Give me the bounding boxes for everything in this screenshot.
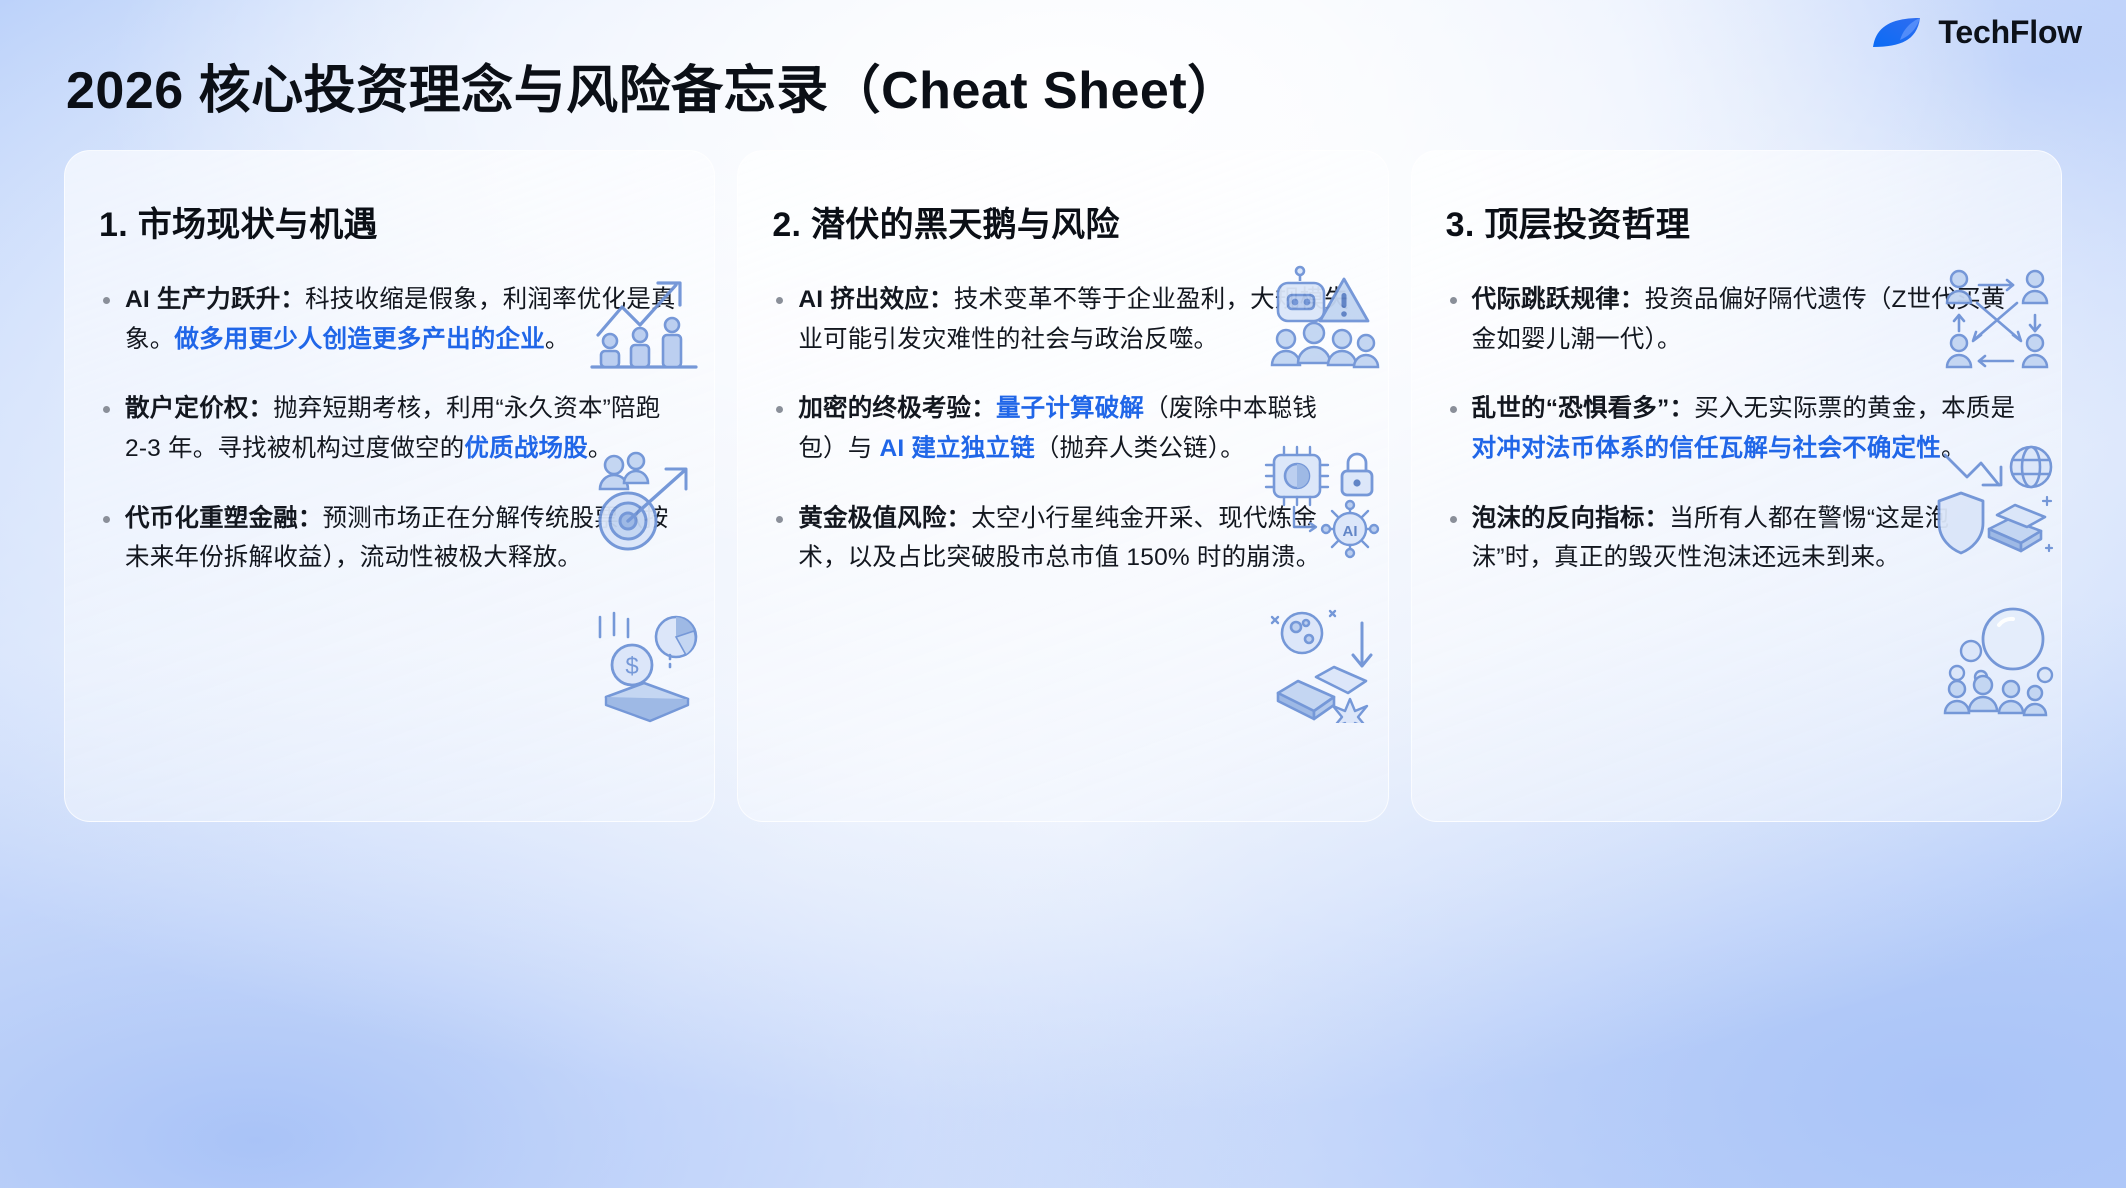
bullet-item: 乱世的“恐惧看多”：买入无实际票的黄金，本质是对冲对法币体系的信任瓦解与社会不确… [1446,389,2027,468]
column-title-1: 1. 市场现状与机遇 [99,197,680,246]
column-card-3: 3. 顶层投资哲理 代际跳跃规律：投资品偏好隔代遗传（Z世代买黄金如婴儿潮一代）… [1411,150,2062,822]
asteroid-gold-bar-icon [1264,603,1382,721]
bullet-lead: 加密的终极考验： [798,395,996,422]
brand-name: TechFlow [1938,14,2082,51]
bullet-body: 买入无实际票的黄金，本质是 [1694,395,2015,422]
brand-logo: TechFlow [1870,14,2082,51]
bullet-lead: 泡沫的反向指标： [1472,505,1670,532]
column-card-2: 2. 潜伏的黑天鹅与风险 AI 挤出效应：技术变革不等于企业盈利，大规模失业可能… [737,150,1388,822]
coin-pie-chart-icon: $ [584,603,708,721]
bullet-dot-icon [1450,297,1457,304]
bullet-dot-icon [776,297,783,304]
bullet-lead: 代际跳跃规律： [1472,286,1645,313]
bullet-highlight: 做多用更少人创造更多产出的企业 [174,326,545,353]
bullet-highlight: 量子计算破解 [996,395,1144,422]
bullet-lead: AI 挤出效应： [798,286,953,313]
bullet-highlight: 对冲对法币体系的信任瓦解与社会不确定性 [1472,435,1941,462]
column-title-3: 3. 顶层投资哲理 [1446,197,2027,246]
bullet-dot-icon [776,406,783,413]
bullet-body-after: 。 [588,435,613,462]
bullet-item: AI 挤出效应：技术变革不等于企业盈利，大规模失业可能引发灾难性的社会与政治反噬… [772,280,1353,359]
bullet-item: 代币化重塑金融：预测市场正在分解传统股票（按未来年份拆解收益），流动性被极大释放… [99,499,680,578]
bullet-lead: 黄金极值风险： [798,505,971,532]
bullet-lead: 代币化重塑金融： [125,505,323,532]
bullet-body-after: 。 [545,326,570,353]
bullet-dot-icon [103,406,110,413]
bullet-highlight: 优质战场股 [464,435,588,462]
bullet-item: 泡沫的反向指标：当所有人都在警惕“这是泡沫”时，真正的毁灭性泡沫还远未到来。 [1446,499,2027,578]
svg-text:$: $ [626,653,639,680]
bullet-dot-icon [103,297,110,304]
bullet-item: AI 生产力跃升：科技收缩是假象，利润率优化是真象。做多用更少人创造更多产出的企… [99,280,680,359]
page-title: 2026 核心投资理念与风险备忘录（Cheat Sheet） [66,48,1240,123]
bullet-body-after: （抛弃人类公链）。 [1035,435,1245,462]
bullet-item: 黄金极值风险：太空小行星纯金开采、现代炼金术，以及占比突破股市总市值 150% … [772,499,1353,578]
bubble-crowd-icon [1937,603,2055,721]
columns-container: 1. 市场现状与机遇 AI 生产力跃升：科技收缩是假象，利润率优化是真象。做多用… [64,150,2062,822]
leaf-blade-icon [1870,16,1924,50]
bullet-lead: 散户定价权： [125,395,273,422]
bullet-dot-icon [1450,516,1457,523]
column-title-2: 2. 潜伏的黑天鹅与风险 [772,197,1353,246]
bullet-body-after: 。 [1941,435,1966,462]
bullet-highlight-2: AI 建立独立链 [879,435,1034,462]
bullet-dot-icon [1450,406,1457,413]
bullet-dot-icon [776,516,783,523]
bullet-item: 加密的终极考验：量子计算破解（废除中本聪钱包）与 AI 建立独立链（抛弃人类公链… [772,389,1353,468]
column-card-1: 1. 市场现状与机遇 AI 生产力跃升：科技收缩是假象，利润率优化是真象。做多用… [64,150,715,822]
bullet-item: 代际跳跃规律：投资品偏好隔代遗传（Z世代买黄金如婴儿潮一代）。 [1446,280,2027,359]
bullet-dot-icon [103,516,110,523]
bullet-item: 散户定价权：抛弃短期考核，利用“永久资本”陪跑 2-3 年。寻找被机构过度做空的… [99,389,680,468]
bullet-lead: AI 生产力跃升： [125,286,305,313]
bullet-lead: 乱世的“恐惧看多”： [1472,395,1695,422]
